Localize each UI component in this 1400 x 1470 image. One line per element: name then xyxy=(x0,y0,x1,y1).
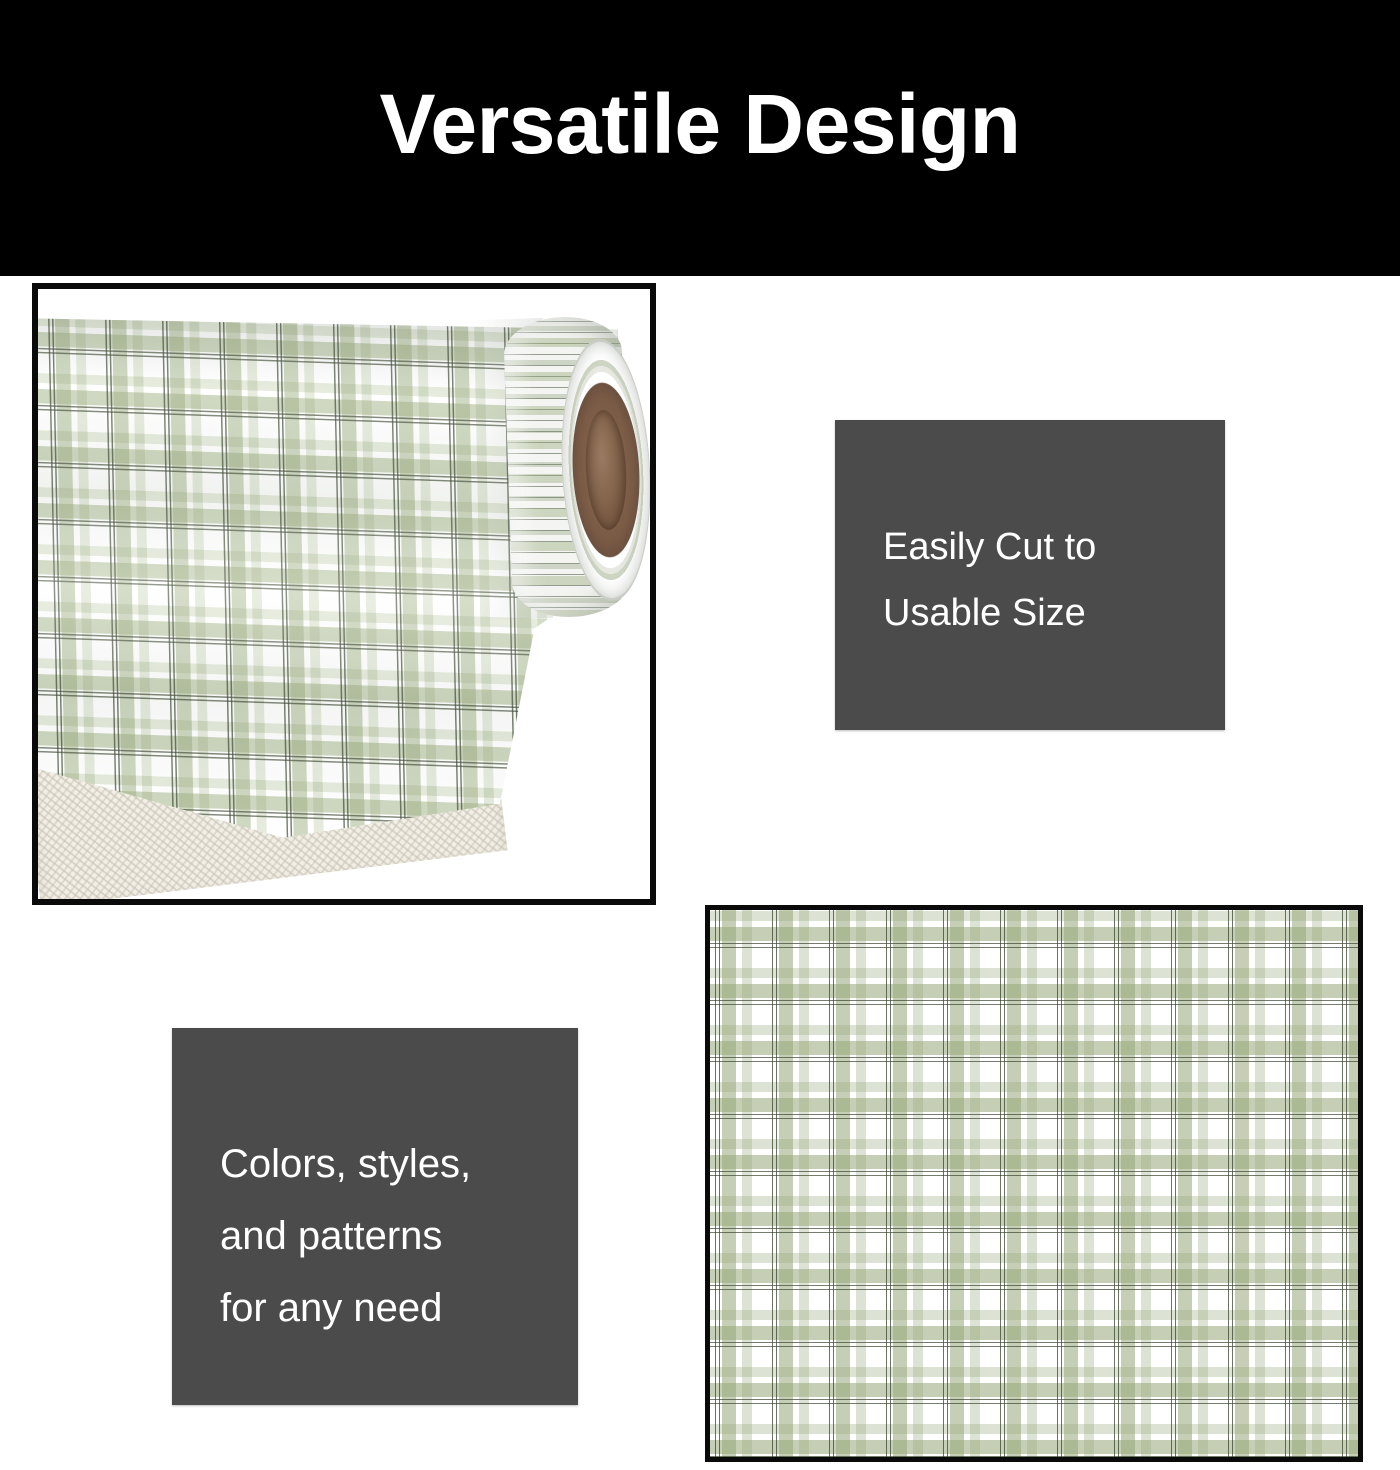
cardboard-core-icon xyxy=(583,409,629,531)
callout-easily-cut-text: Easily Cut to Usable Size xyxy=(883,514,1213,646)
callout-easily-cut: Easily Cut to Usable Size xyxy=(835,420,1225,730)
product-photo-image xyxy=(38,289,650,899)
product-photo-frame xyxy=(32,283,656,905)
plaid-swatch-frame xyxy=(705,905,1363,1462)
page-title: Versatile Design xyxy=(0,78,1400,170)
plaid-swatch-pattern xyxy=(705,905,1363,1462)
callout-colors-styles-text: Colors, styles, and patterns for any nee… xyxy=(220,1128,570,1344)
header-banner: Versatile Design xyxy=(0,0,1400,276)
callout-colors-styles: Colors, styles, and patterns for any nee… xyxy=(172,1028,578,1405)
